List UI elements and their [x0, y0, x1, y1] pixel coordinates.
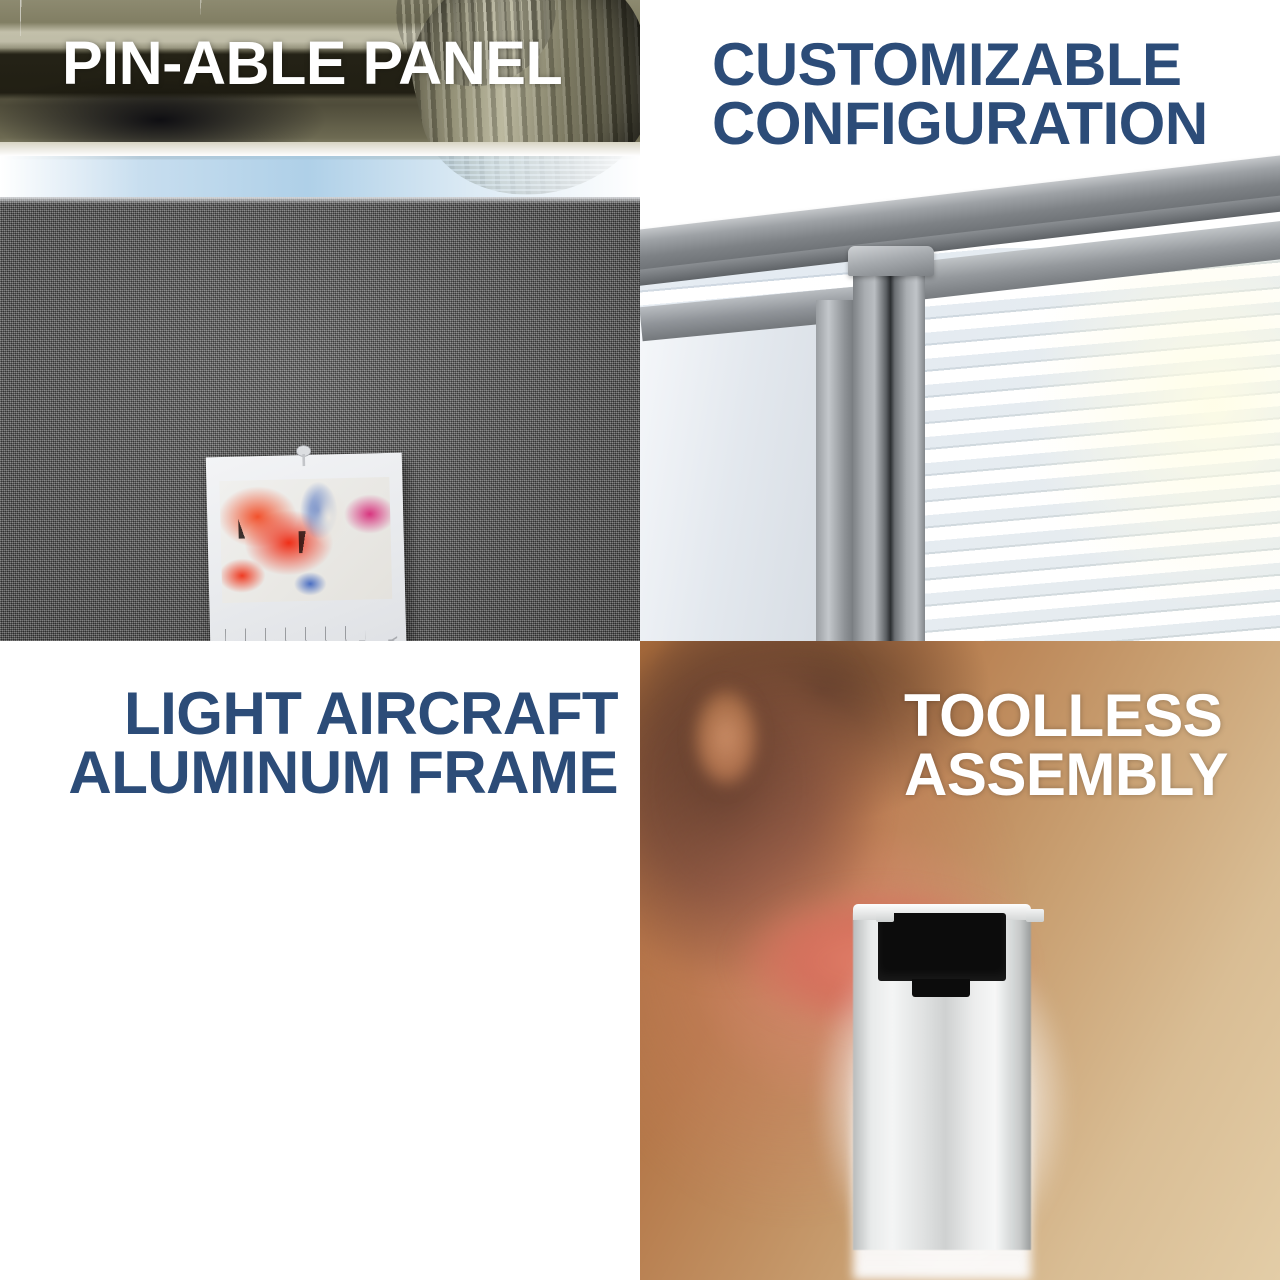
feature-collage: FEBRUARY PIN-ABLE PANEL CUSTOMIZABLE CON… [0, 0, 1280, 1280]
panel-customizable-configuration: CUSTOMIZABLE CONFIGURATION [640, 0, 1280, 641]
caption-toolless-assembly: TOOLLESS ASSEMBLY [904, 687, 1280, 805]
panel-pin-able: FEBRUARY PIN-ABLE PANEL [0, 0, 640, 641]
connector-post [853, 251, 925, 641]
window-glow [980, 248, 1280, 641]
caption-aluminum-frame: LIGHT AIRCRAFT ALUMINUM FRAME [0, 685, 618, 803]
extrusion-channel-cavity [878, 913, 1006, 981]
light-band [0, 154, 640, 200]
extrusion-notch-right [1026, 909, 1044, 922]
calendar-date-grid [225, 626, 367, 641]
caption-pin-able-panel: PIN-ABLE PANEL [62, 34, 562, 94]
panel-aluminum-frame: LIGHT AIRCRAFT ALUMINUM FRAME [0, 641, 640, 1280]
pinned-calendar: FEBRUARY [206, 453, 408, 641]
extrusion-notch-left [876, 909, 894, 922]
panel-toolless-assembly: TOOLLESS ASSEMBLY [640, 641, 1280, 1280]
calendar-artwork [219, 477, 392, 603]
pinable-fabric-panel: FEBRUARY [0, 197, 640, 641]
left-vertical-post [816, 300, 858, 641]
connector-post-cap [848, 246, 934, 276]
caption-customizable-configuration: CUSTOMIZABLE CONFIGURATION [712, 36, 1280, 154]
push-pin-icon [293, 445, 314, 467]
